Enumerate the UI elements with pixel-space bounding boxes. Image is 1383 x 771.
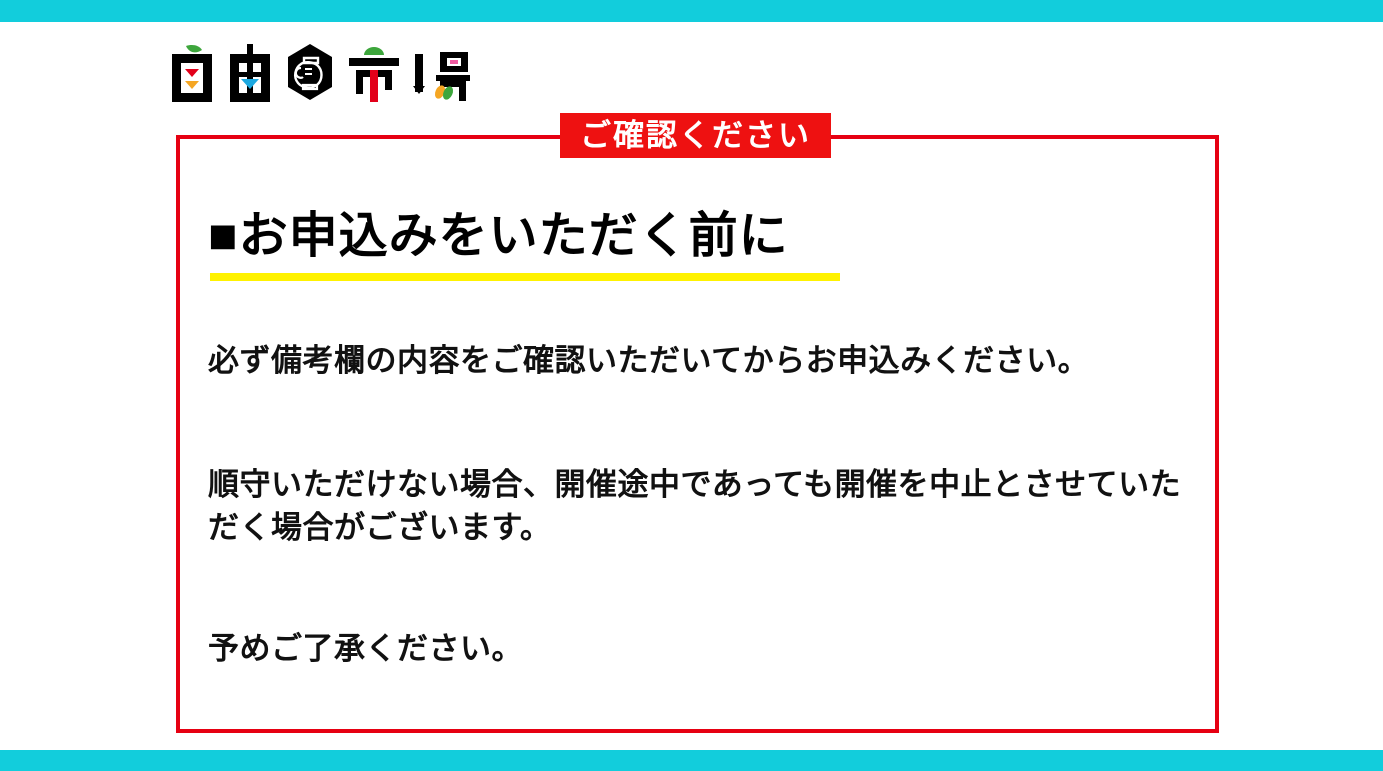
notice-badge: ご確認ください: [560, 113, 831, 158]
heading-underline: [210, 273, 840, 281]
top-accent-bar: [0, 0, 1383, 22]
slide-page: ■お申込みをいただく前に 必ず備考欄の内容をご確認いただいてからお申込みください…: [0, 0, 1383, 771]
notice-paragraph-2: 順守いただけない場合、開催途中であっても開催を中止とさせていただく場合がございま…: [208, 464, 1193, 550]
site-logo[interactable]: [168, 42, 472, 104]
notice-paragraph-1: 必ず備考欄の内容をご確認いただいてからお申込みください。: [208, 340, 1193, 383]
notice-content: ■お申込みをいただく前に 必ず備考欄の内容をご確認いただいてからお申込みください…: [208, 139, 1195, 729]
bottom-accent-bar: [0, 750, 1383, 771]
notice-heading-wrap: ■お申込みをいただく前に: [208, 209, 789, 264]
logo-char-tsubo-icon: [284, 42, 336, 104]
logo-char-shiro-icon: [168, 42, 216, 104]
logo-char-ichi-icon: [346, 42, 402, 104]
logo-char-ba-icon: [412, 42, 472, 104]
logo-char-yu-icon: [226, 42, 274, 104]
notice-paragraph-3: 予めご了承ください。: [208, 628, 1193, 671]
notice-heading: ■お申込みをいただく前に: [208, 209, 789, 264]
notice-box: ■お申込みをいただく前に 必ず備考欄の内容をご確認いただいてからお申込みください…: [176, 135, 1219, 733]
